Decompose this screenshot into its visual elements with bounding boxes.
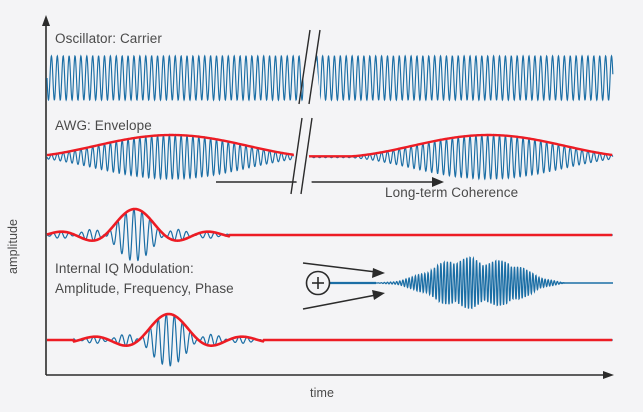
series-iq-pulse-b: [47, 314, 613, 366]
label-iq-modulation-params: Amplitude, Frequency, Phase: [55, 281, 234, 296]
combiner-node: [307, 272, 330, 295]
label-oscillator-carrier: Oscillator: Carrier: [55, 31, 162, 46]
feed-arrow-top-head: [372, 268, 385, 278]
y-axis-arrowhead: [42, 15, 50, 26]
series-oscillator-carrier: [47, 56, 613, 100]
axis-label-time: time: [310, 386, 334, 400]
label-iq-modulation-title: Internal IQ Modulation:: [55, 261, 194, 276]
axis-label-amplitude: amplitude: [6, 219, 20, 274]
series-iq-pulse-a: [47, 209, 613, 260]
feed-arrow-bottom-shaft: [303, 295, 376, 309]
output-burst-waveform: [376, 257, 565, 308]
x-axis-arrowhead: [603, 371, 614, 379]
feed-arrow-bottom-head: [372, 290, 385, 300]
series-combined-output: [330, 257, 613, 308]
series-awg-envelope: [47, 135, 613, 179]
diagram-canvas: [0, 0, 643, 412]
waveform-diagram: Oscillator: Carrier AWG: Envelope Intern…: [0, 0, 643, 412]
label-long-term-coherence: Long-term Coherence: [385, 185, 518, 200]
feed-arrow-top-shaft: [303, 263, 376, 272]
carrier-waveform: [47, 56, 613, 100]
label-awg-envelope: AWG: Envelope: [55, 118, 152, 133]
